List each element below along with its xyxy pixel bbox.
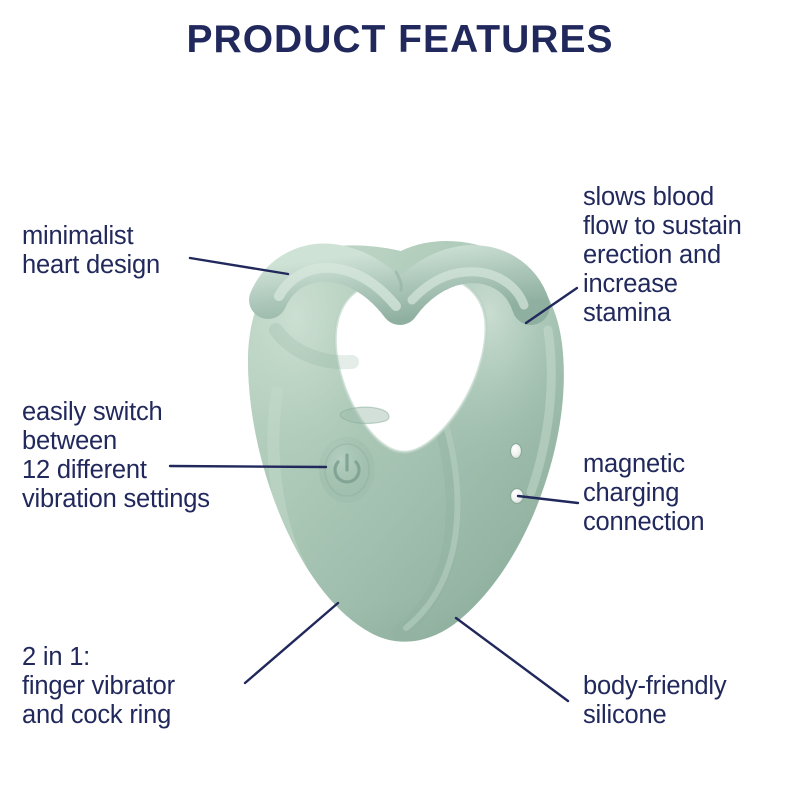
- callout-magnetic-charging: magnetic charging connection: [583, 450, 798, 537]
- callout-minimalist-heart-design: minimalist heart design: [22, 222, 257, 280]
- callout-two-in-one: 2 in 1: finger vibrator and cock ring: [22, 643, 287, 730]
- product-features-page: PRODUCT FEATURES: [0, 0, 800, 800]
- callout-blood-flow: slows blood flow to sustain erection and…: [583, 183, 798, 328]
- callout-body-friendly-silicone: body-friendly silicone: [583, 672, 798, 730]
- callout-vibration-settings: easily switch between 12 different vibra…: [22, 398, 277, 514]
- seam-slot: [340, 407, 389, 423]
- charging-contact-upper: [511, 444, 522, 459]
- power-button[interactable]: [319, 437, 375, 503]
- leader-silicone: [456, 618, 568, 701]
